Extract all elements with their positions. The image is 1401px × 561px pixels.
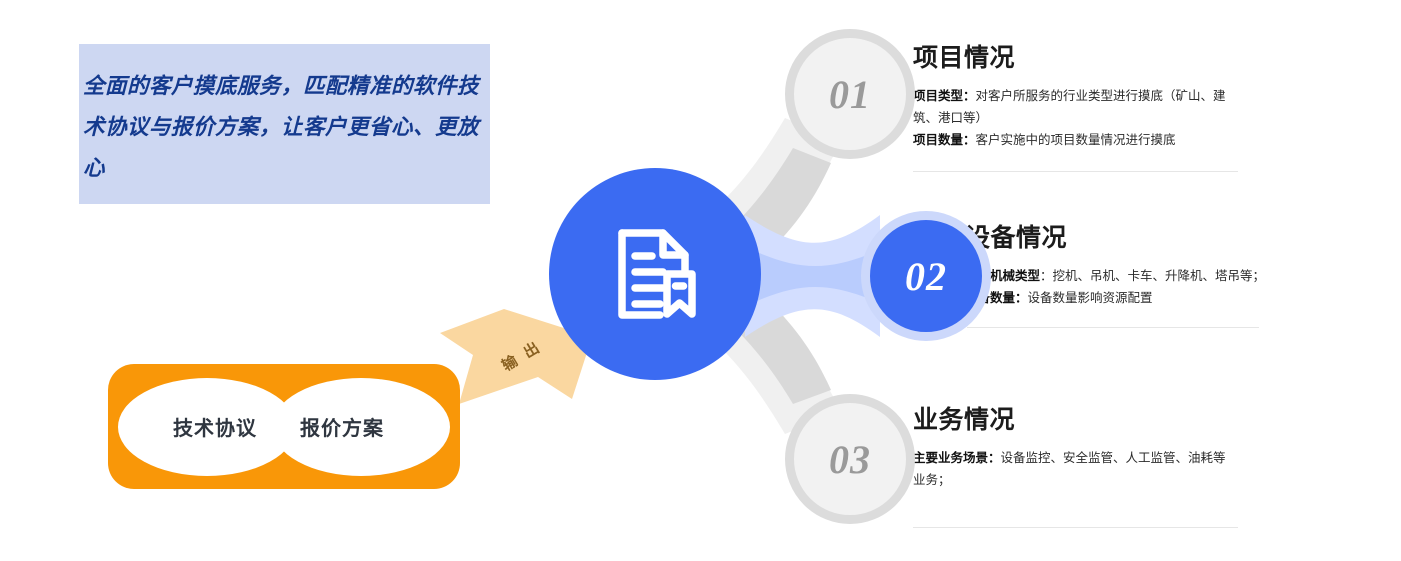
step-number-02: 02 <box>905 253 947 300</box>
section-line: 项目类型：对客户所服务的行业类型进行摸底（矿山、建筑、港口等） <box>913 85 1243 129</box>
document-bookmark-icon <box>603 222 707 326</box>
section-line-label: 项目类型： <box>913 89 976 103</box>
section-line-label: 主要业务场景： <box>913 451 1001 465</box>
section-block-1: 项目情况 项目类型：对客户所服务的行业类型进行摸底（矿山、建筑、港口等） 项目数… <box>913 38 1243 172</box>
section-block-2: 设备情况 设备机械类型：挖机、吊机、卡车、升降机、塔吊等； 设备数量：设备数量影… <box>965 218 1317 328</box>
output-result-box <box>108 364 460 489</box>
diagram-canvas: 输 出 全面的客户摸底服务，匹配精准的软件技术协议与报价方案，让客户更省心、更放… <box>0 0 1401 561</box>
step-number-01: 01 <box>829 71 871 118</box>
section-line-value: 客户实施中的项目数量情况进行摸底 <box>976 133 1176 147</box>
section-title-1: 项目情况 <box>913 38 1243 74</box>
section-line-label: 项目数量： <box>913 133 976 147</box>
section-line-value: ：挖机、吊机、卡车、升降机、塔吊等； <box>1040 269 1265 283</box>
section-line-value: 设备数量影响资源配置 <box>1028 291 1153 305</box>
section-block-3: 业务情况 主要业务场景：设备监控、安全监管、人工监管、油耗等业务； <box>913 400 1231 528</box>
step-node-01[interactable]: 01 <box>785 29 915 159</box>
section-title-2: 设备情况 <box>965 218 1317 254</box>
step-node-03[interactable]: 03 <box>785 394 915 524</box>
section-line: 设备数量：设备数量影响资源配置 <box>965 287 1317 309</box>
section-title-3: 业务情况 <box>913 400 1231 436</box>
section-divider <box>913 527 1238 528</box>
step-node-02[interactable]: 02 <box>861 211 991 341</box>
section-line: 设备机械类型：挖机、吊机、卡车、升降机、塔吊等； <box>965 265 1317 287</box>
step-number-03: 03 <box>829 436 871 483</box>
central-hub-circle <box>549 168 761 380</box>
section-divider <box>967 327 1259 328</box>
output-item-quotation-plan: 报价方案 <box>300 412 384 441</box>
output-item-technical-agreement: 技术协议 <box>173 412 257 441</box>
section-line: 项目数量：客户实施中的项目数量情况进行摸底 <box>913 129 1243 151</box>
section-line: 主要业务场景：设备监控、安全监管、人工监管、油耗等业务； <box>913 447 1231 491</box>
section-divider <box>913 171 1238 172</box>
